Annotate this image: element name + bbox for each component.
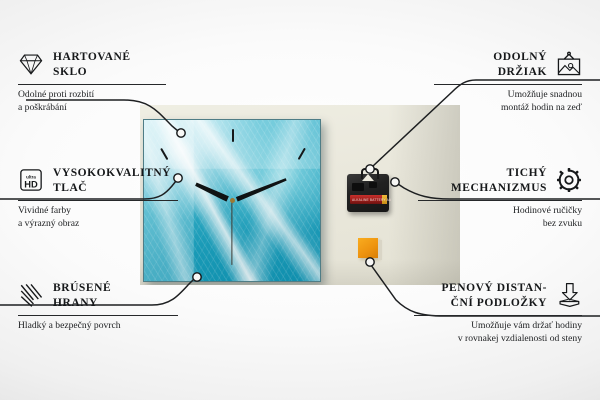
- feature-title: BRÚSENÉ HRANY: [53, 281, 111, 310]
- mechanism-slot: [369, 182, 377, 188]
- feature-description: Umožňuje snadnou montáž hodin na zeď: [434, 89, 582, 115]
- product-photo: ALKALINE BATTERY AA: [140, 105, 460, 285]
- battery-label: ALKALINE BATTERY AA: [352, 198, 391, 202]
- feature-tempered-glass: HARTOVANÉ SKLO Odolné proti rozbití a po…: [18, 50, 166, 115]
- divider: [18, 84, 166, 85]
- ultra-hd-icon-hd-text: HD: [24, 179, 38, 189]
- clock-center-cap: [230, 198, 235, 203]
- feature-description: Hladký a bezpečný povrch: [18, 320, 178, 333]
- foam-spacer-icon: [556, 282, 582, 308]
- divider: [434, 84, 582, 85]
- divider: [418, 200, 582, 201]
- divider: [18, 200, 178, 201]
- foam-pad-side: [378, 240, 382, 260]
- feature-title: TICHÝ MECHANIZMUS: [451, 166, 547, 195]
- clock-mechanism: ALKALINE BATTERY AA: [347, 168, 389, 212]
- feature-high-quality-print: ultra HD VYSOKOKVALITNÝ TLAČ Vividné far…: [18, 166, 178, 231]
- feature-title: ODOLNÝ DRŽIAK: [493, 50, 547, 79]
- feature-description: Vividné farby a výrazný obraz: [18, 205, 178, 231]
- feature-description: Odolné proti rozbití a poškrábání: [18, 89, 166, 115]
- polished-edges-icon: [18, 282, 44, 308]
- gear-icon: [556, 167, 582, 193]
- feature-title: VYSOKOKVALITNÝ TLAČ: [53, 166, 171, 195]
- foam-spacer-pad: [358, 238, 378, 258]
- feature-foam-spacers: PENOVÝ DISTAN- ČNÍ PODLOŽKY Umožňuje vám…: [414, 281, 582, 346]
- feature-description: Umožňuje vám držať hodiny v rovnakej vzd…: [414, 320, 582, 346]
- mechanism-slot: [352, 183, 364, 191]
- divider: [414, 315, 582, 316]
- divider: [18, 315, 178, 316]
- product-feature-infographic: ALKALINE BATTERY AA: [0, 0, 600, 400]
- ultra-hd-icon: ultra HD: [18, 167, 44, 193]
- feature-polished-edges: BRÚSENÉ HRANY Hladký a bezpečný povrch: [18, 281, 178, 333]
- feature-title: PENOVÝ DISTAN- ČNÍ PODLOŽKY: [441, 281, 547, 310]
- diamond-icon: [18, 51, 44, 77]
- feature-silent-mechanism: TICHÝ MECHANIZMUS: [418, 166, 582, 231]
- feature-title: HARTOVANÉ SKLO: [53, 50, 131, 79]
- feature-durable-holder: ODOLNÝ DRŽIAK Umožňuje snadnou montáž ho…: [434, 50, 582, 115]
- feature-description: Hodinové ručičky bez zvuku: [418, 205, 582, 231]
- picture-hanger-icon: [556, 51, 582, 77]
